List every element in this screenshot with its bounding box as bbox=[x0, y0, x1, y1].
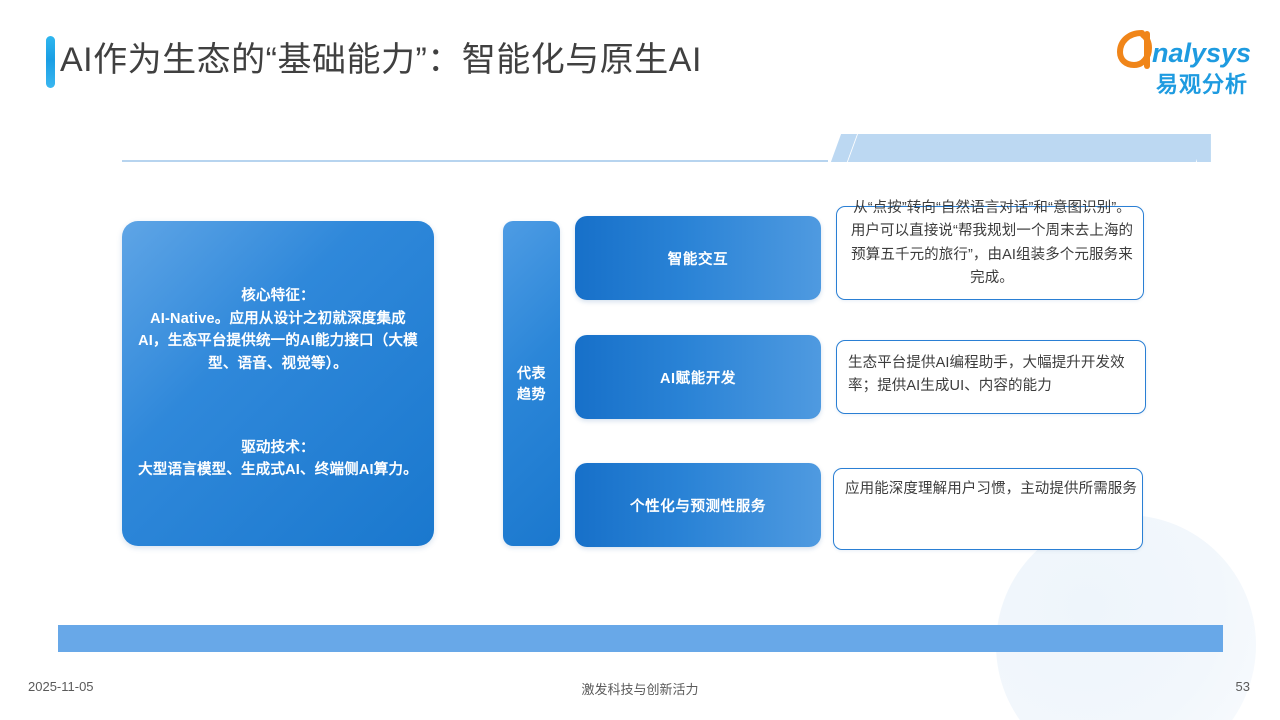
trend-column-label-line2: 趋势 bbox=[517, 384, 546, 404]
feature-driver: 驱动技术： 大型语言模型、生成式AI、终端侧AI算力。 bbox=[138, 437, 418, 482]
feature-core-body: AI-Native。应用从设计之初就深度集成AI，生态平台提供统一的AI能力接口… bbox=[138, 308, 418, 375]
slide-canvas: AI作为生态的“基础能力”：智能化与原生AI nalysys 易观分析 核心特征… bbox=[0, 0, 1280, 720]
trend-pill-2-label: AI赋能开发 bbox=[660, 367, 736, 388]
trend-pill-2[interactable]: AI赋能开发 bbox=[575, 335, 821, 419]
feature-core: 核心特征： AI-Native。应用从设计之初就深度集成AI，生态平台提供统一的… bbox=[138, 285, 418, 375]
trend-description-1: 从“点按”转向“自然语言对话”和“意图识别”。用户可以直接说“帮我规划一个周末去… bbox=[846, 197, 1138, 291]
title-accent-bar bbox=[46, 36, 55, 88]
footer-tagline: 激发科技与创新活力 bbox=[0, 679, 1280, 698]
trend-description-2: 生态平台提供AI编程助手，大幅提升开发效率；提供AI生成UI、内容的能力 bbox=[848, 352, 1140, 399]
trend-pill-3-label: 个性化与预测性服务 bbox=[630, 495, 766, 516]
feature-driver-body: 大型语言模型、生成式AI、终端侧AI算力。 bbox=[138, 459, 418, 481]
analysys-logo: nalysys 易观分析 bbox=[1116, 26, 1252, 100]
feature-driver-heading: 驱动技术： bbox=[138, 437, 418, 459]
feature-core-heading: 核心特征： bbox=[138, 285, 418, 307]
bottom-accent-bar bbox=[58, 625, 1223, 652]
logo-mark-icon bbox=[1120, 33, 1149, 66]
logo-wordmark: nalysys bbox=[1152, 38, 1251, 68]
feature-card: 核心特征： AI-Native。应用从设计之初就深度集成AI，生态平台提供统一的… bbox=[122, 221, 434, 546]
trend-column-label-line1: 代表 bbox=[517, 363, 546, 383]
trend-column-bar: 代表 趋势 bbox=[503, 221, 560, 546]
footer-page-number: 53 bbox=[1236, 679, 1250, 694]
header-band-main bbox=[848, 134, 1206, 162]
trend-pill-3[interactable]: 个性化与预测性服务 bbox=[575, 463, 821, 547]
trend-description-3: 应用能深度理解用户习惯，主动提供所需服务 bbox=[845, 478, 1137, 501]
trend-column-label: 代表 趋势 bbox=[517, 363, 546, 404]
trend-pill-1-label: 智能交互 bbox=[668, 248, 728, 269]
trend-pill-1[interactable]: 智能交互 bbox=[575, 216, 821, 300]
header-divider-line bbox=[122, 160, 828, 162]
page-title: AI作为生态的“基础能力”：智能化与原生AI bbox=[60, 28, 702, 92]
logo-chinese-name: 易观分析 bbox=[1156, 72, 1248, 97]
